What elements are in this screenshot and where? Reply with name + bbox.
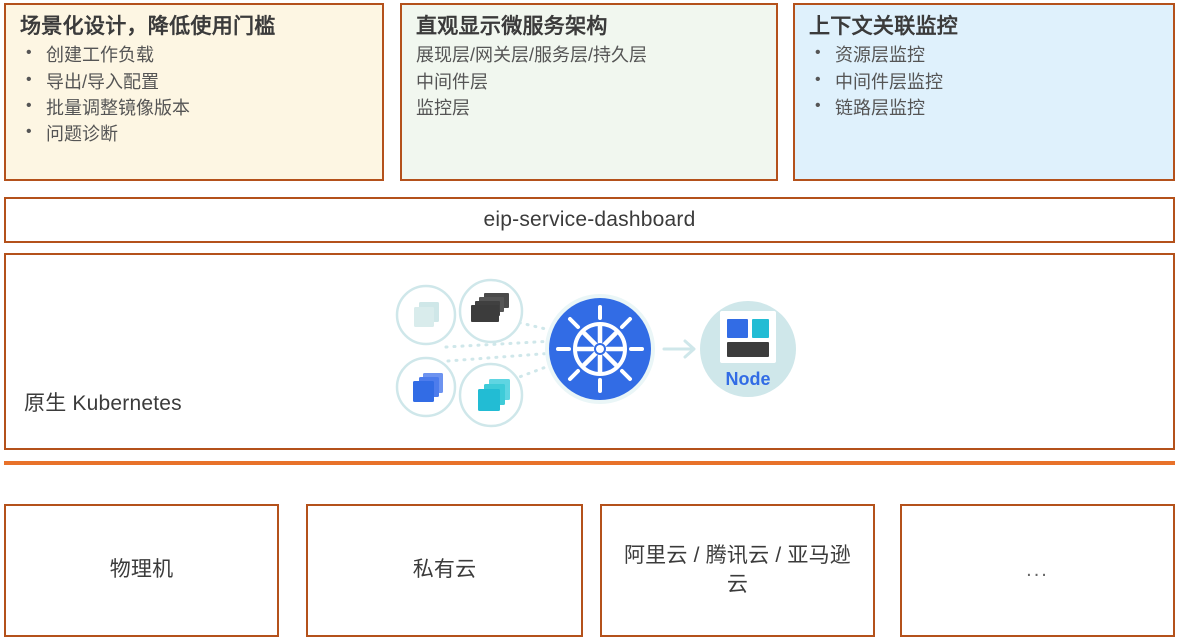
stacked-squares-pale-icon bbox=[397, 286, 455, 344]
feature-card-title: 场景化设计，降低使用门槛 bbox=[20, 13, 370, 40]
infra-box-public-clouds: 阿里云 / 腾讯云 / 亚马逊云 bbox=[600, 504, 875, 637]
feature-card-title: 直观显示微服务架构 bbox=[416, 13, 764, 40]
kubernetes-illustration: Node bbox=[378, 269, 808, 439]
list-item: 导出/导入配置 bbox=[20, 69, 370, 95]
list-item: 资源层监控 bbox=[809, 42, 1161, 68]
list-item: 中间件层监控 bbox=[809, 69, 1161, 95]
platform-label: 原生 Kubernetes bbox=[24, 387, 182, 417]
kubernetes-helm-icon bbox=[545, 294, 655, 404]
infra-box-more: ... bbox=[900, 504, 1175, 637]
infra-box-label: 阿里云 / 腾讯云 / 亚马逊云 bbox=[616, 542, 859, 599]
list-item: 批量调整镜像版本 bbox=[20, 95, 370, 121]
kubernetes-platform-box: 原生 Kubernetes bbox=[4, 253, 1175, 450]
infra-box-label: ... bbox=[1026, 557, 1049, 584]
infra-box-private-cloud: 私有云 bbox=[306, 504, 583, 637]
architecture-diagram: 场景化设计，降低使用门槛 创建工作负载 导出/导入配置 批量调整镜像版本 问题诊… bbox=[0, 0, 1179, 641]
section-divider bbox=[4, 461, 1175, 465]
list-item: 链路层监控 bbox=[809, 95, 1161, 121]
list-item: 问题诊断 bbox=[20, 121, 370, 147]
arrow-right-icon bbox=[664, 341, 694, 357]
infra-box-label: 物理机 bbox=[110, 556, 174, 584]
node-tiles-icon: Node bbox=[700, 301, 796, 397]
dashboard-bar: eip-service-dashboard bbox=[4, 197, 1175, 243]
feature-card-list: 资源层监控 中间件层监控 链路层监控 bbox=[809, 42, 1161, 121]
stacked-squares-cyan-icon bbox=[460, 364, 522, 426]
list-item: 展现层/网关层/服务层/持久层 bbox=[416, 42, 764, 68]
feature-card-title: 上下文关联监控 bbox=[809, 13, 1161, 40]
node-label: Node bbox=[726, 369, 771, 389]
list-item: 监控层 bbox=[416, 95, 764, 121]
feature-card-microservice-architecture: 直观显示微服务架构 展现层/网关层/服务层/持久层 中间件层 监控层 bbox=[400, 3, 778, 181]
feature-card-context-monitoring: 上下文关联监控 资源层监控 中间件层监控 链路层监控 bbox=[793, 3, 1175, 181]
list-item: 创建工作负载 bbox=[20, 42, 370, 68]
stacked-squares-blue-icon bbox=[397, 358, 455, 416]
feature-card-scenario-design: 场景化设计，降低使用门槛 创建工作负载 导出/导入配置 批量调整镜像版本 问题诊… bbox=[4, 3, 384, 181]
dashboard-bar-label: eip-service-dashboard bbox=[484, 208, 696, 232]
feature-card-list: 创建工作负载 导出/导入配置 批量调整镜像版本 问题诊断 bbox=[20, 42, 370, 147]
list-item: 中间件层 bbox=[416, 69, 764, 95]
stacked-squares-dark-icon bbox=[460, 280, 522, 342]
infra-box-physical-machine: 物理机 bbox=[4, 504, 279, 637]
infra-box-label: 私有云 bbox=[413, 556, 477, 584]
feature-card-list: 展现层/网关层/服务层/持久层 中间件层 监控层 bbox=[416, 42, 764, 121]
